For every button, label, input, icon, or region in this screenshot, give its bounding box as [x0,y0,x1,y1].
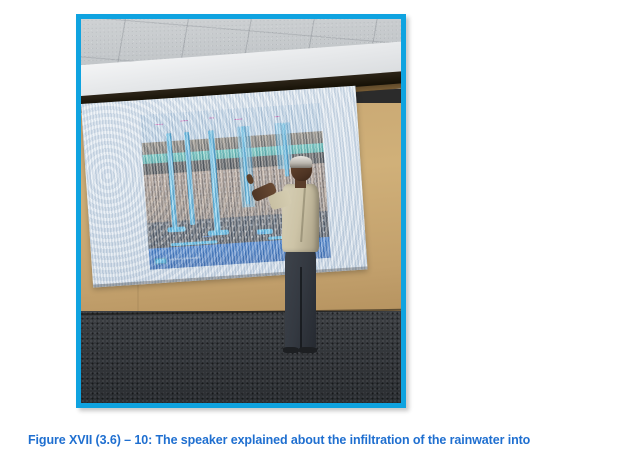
speaker-shoe-left [283,347,299,353]
speaker-trousers [285,249,316,349]
speaker-hair [290,156,313,168]
photo-frame: ▬▬ ▬ ▬▬▬ ▬▬ ▬▬▬ ▬▬ ▬▬▬▬ ▬▬▬ INFILTRATED … [76,14,406,408]
speaker-shirt-fold [300,188,305,242]
legend-swatch [155,258,167,265]
figure-caption: Figure XVII (3.6) – 10: The speaker expl… [28,432,618,448]
speaker-figure [267,157,337,357]
speaker-shoe-right [299,347,317,353]
seminar-room-photo: ▬▬ ▬ ▬▬▬ ▬▬ ▬▬▬ ▬▬ ▬▬▬▬ ▬▬▬ INFILTRATED … [81,19,401,403]
legend-label: INFILTRATED RAINWATER [169,257,201,262]
room-floor [81,311,401,403]
figure-container: ▬▬ ▬ ▬▬▬ ▬▬ ▬▬▬ ▬▬ ▬▬▬▬ ▬▬▬ INFILTRATED … [76,14,406,408]
speaker-leg-split [300,267,302,349]
